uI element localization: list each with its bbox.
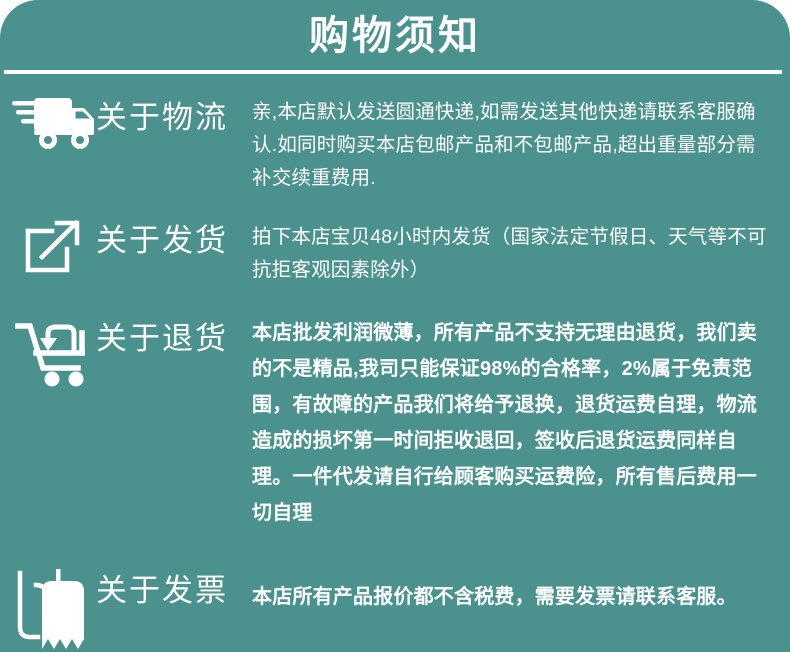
section-shipping-body: 拍下本店宝贝48小时内发货（国家法定节假日、天气等不可抗拒客观因素除外）	[252, 217, 790, 287]
shopping-notice-panel: 购物须知	[0, 0, 790, 652]
external-link-icon	[12, 217, 96, 275]
section-return: 关于退货 本店批发利润微薄，所有产品不支持无理由退货，我们卖的不是精品,我司只能…	[0, 287, 790, 531]
section-return-body: 本店批发利润微薄，所有产品不支持无理由退货，我们卖的不是精品,我司只能保证98%…	[252, 315, 790, 531]
section-logistics-head: 关于物流	[0, 94, 252, 150]
section-logistics: 关于物流 亲,本店默认发送圆通快递,如需发送其他快递请联系客服确认.如同时购买本…	[0, 82, 790, 195]
section-invoice-body: 本店所有产品报价都不含税费，需要发票请联系客服。	[252, 567, 790, 615]
section-return-text: 本店批发利润微薄，所有产品不支持无理由退货，我们卖的不是精品,我司只能保证98%…	[252, 315, 772, 531]
section-invoice-head: 关于发票	[0, 567, 252, 652]
section-shipping: 关于发货 拍下本店宝贝48小时内发货（国家法定节假日、天气等不可抗拒客观因素除外…	[0, 195, 790, 287]
section-logistics-label: 关于物流	[96, 94, 228, 133]
section-shipping-label: 关于发货	[96, 217, 228, 256]
section-invoice: 关于发票 本店所有产品报价都不含税费，需要发票请联系客服。	[0, 531, 790, 652]
section-logistics-text: 亲,本店默认发送圆通快递,如需发送其他快递请联系客服确认.如同时购买本店包邮产品…	[252, 96, 772, 195]
panel-header: 购物须知	[0, 0, 790, 70]
page-title: 购物须知	[309, 16, 481, 56]
section-invoice-label: 关于发票	[96, 567, 228, 606]
notice-sections: 关于物流 亲,本店默认发送圆通快递,如需发送其他快递请联系客服确认.如同时购买本…	[0, 74, 790, 652]
section-shipping-head: 关于发货	[0, 217, 252, 275]
section-return-head: 关于退货	[0, 315, 252, 387]
section-return-label: 关于退货	[96, 315, 228, 354]
delivery-truck-icon	[12, 94, 96, 150]
invoice-receipt-icon	[12, 567, 96, 652]
return-cart-icon	[12, 315, 96, 387]
section-logistics-body: 亲,本店默认发送圆通快递,如需发送其他快递请联系客服确认.如同时购买本店包邮产品…	[252, 94, 790, 195]
section-invoice-text: 本店所有产品报价都不含税费，需要发票请联系客服。	[252, 579, 772, 615]
section-shipping-text: 拍下本店宝贝48小时内发货（国家法定节假日、天气等不可抗拒客观因素除外）	[252, 221, 772, 287]
